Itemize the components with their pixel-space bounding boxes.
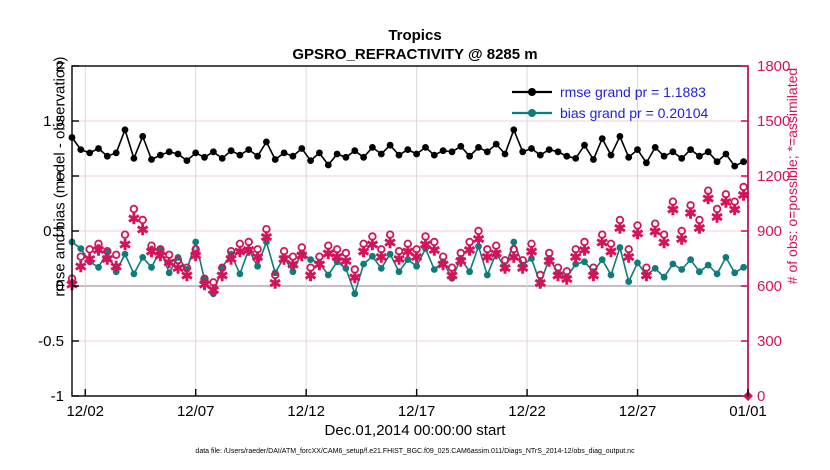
data-point	[599, 135, 606, 142]
obs-assimilated-marker: ✱	[631, 226, 644, 243]
obs-assimilated-marker: ✱	[675, 231, 688, 248]
data-point	[396, 152, 403, 159]
y-tick-label-left: -1	[51, 388, 64, 405]
data-point	[723, 151, 730, 158]
data-point	[440, 147, 447, 154]
series-asterisk: ✱✱✱✱✱✱✱✱✱✱✱✱✱✱✱✱✱✱✱✱✱✱✱✱✱✱✱✱✱✱✱✱✱✱✱✱✱✱✱✱…	[66, 187, 751, 299]
legend-label-2: bias grand pr = 0.20104	[560, 105, 708, 121]
data-point	[281, 150, 288, 157]
data-point	[139, 133, 146, 140]
data-point	[219, 155, 226, 162]
obs-assimilated-marker: ✱	[207, 283, 220, 300]
data-point	[528, 145, 535, 152]
data-point	[590, 156, 597, 163]
data-point	[572, 155, 579, 162]
chart-subtitle: GPSRO_REFRACTIVITY @ 8285 m	[0, 45, 830, 65]
data-point	[670, 261, 677, 268]
obs-assimilated-marker: ✱	[269, 275, 282, 292]
obs-assimilated-marker: ✱	[119, 237, 132, 254]
figure-canvas: Tropics GPSRO_REFRACTIVITY @ 8285 m rmse…	[0, 0, 830, 470]
data-point	[705, 148, 712, 155]
data-point	[696, 268, 703, 275]
data-point	[122, 126, 129, 133]
data-point	[705, 262, 712, 269]
obs-assimilated-marker: ✱	[605, 244, 618, 261]
x-tick-label: 12/12	[287, 403, 325, 420]
data-point	[351, 290, 358, 297]
data-point	[245, 146, 252, 153]
data-point	[466, 268, 473, 275]
data-point	[634, 260, 641, 267]
data-point	[290, 153, 297, 160]
x-tick-label: 12/27	[619, 403, 657, 420]
data-point	[687, 256, 694, 263]
legend-label-1: rmse grand pr = 1.1883	[560, 84, 706, 100]
y-tick-label-right: 600	[757, 278, 782, 295]
series-filled-circle	[69, 126, 747, 169]
data-point	[131, 155, 138, 162]
obs-assimilated-marker: ✱	[534, 275, 547, 292]
data-point	[643, 159, 650, 166]
obs-assimilated-marker: ✱	[516, 261, 529, 278]
data-point	[131, 271, 138, 278]
data-point	[360, 261, 367, 268]
data-point	[422, 144, 429, 151]
y-axis-right-label: # of obs: o=possible; *=assimilated	[784, 6, 800, 346]
obs-assimilated-marker: ✱	[640, 268, 653, 285]
data-point	[608, 152, 615, 159]
data-point	[192, 150, 199, 157]
data-point	[457, 143, 464, 150]
data-point	[617, 133, 624, 140]
data-point	[625, 278, 632, 285]
data-point	[95, 145, 102, 152]
data-point	[113, 150, 120, 157]
data-point	[254, 153, 261, 160]
data-point	[652, 265, 659, 272]
obs-assimilated-marker: ✱	[614, 220, 627, 237]
obs-assimilated-marker: ✱	[702, 191, 715, 208]
data-point	[148, 156, 155, 163]
data-point	[714, 158, 721, 165]
legend-marker-1	[528, 88, 536, 96]
data-point	[652, 144, 659, 151]
data-point	[493, 141, 500, 148]
data-point	[510, 239, 517, 246]
x-axis-label: Dec.01,2014 00:00:00 start	[0, 422, 830, 439]
data-point	[413, 151, 420, 158]
data-point	[714, 271, 721, 278]
data-point	[369, 144, 376, 151]
obs-assimilated-marker: ✱	[260, 230, 273, 247]
data-point	[378, 151, 385, 158]
y-axis-left-label: rmse and bias (model - observation)	[52, 7, 69, 347]
data-point	[104, 153, 111, 160]
data-point	[555, 148, 562, 155]
obs-assimilated-marker: ✱	[711, 209, 724, 226]
data-point	[157, 152, 164, 159]
data-point	[298, 145, 305, 152]
obs-assimilated-marker: ✱	[525, 244, 538, 261]
data-point	[86, 150, 93, 157]
obs-assimilated-marker: ✱	[622, 250, 635, 267]
data-point	[343, 154, 350, 161]
obs-assimilated-marker: ✱	[667, 202, 680, 219]
obs-assimilated-marker: ✱	[384, 235, 397, 252]
legend-marker-2	[528, 109, 536, 117]
data-point	[484, 272, 491, 279]
data-point	[731, 269, 738, 276]
data-point	[484, 148, 491, 155]
data-point	[325, 272, 332, 279]
y-tick-label-right: 900	[757, 223, 782, 240]
data-point	[166, 148, 173, 155]
x-tick-label: 12/22	[508, 403, 546, 420]
obs-assimilated-marker: ✱	[216, 268, 229, 285]
data-point	[634, 146, 641, 153]
x-tick-label: 12/07	[177, 403, 215, 420]
data-point	[210, 148, 217, 155]
data-point	[387, 142, 394, 149]
data-point	[192, 239, 199, 246]
data-point	[316, 150, 323, 157]
data-point	[625, 154, 632, 161]
data-point	[360, 154, 367, 161]
data-point	[687, 146, 694, 153]
data-point	[431, 152, 438, 159]
data-point	[563, 153, 570, 160]
data-point	[510, 126, 517, 133]
obs-assimilated-marker: ✱	[561, 272, 574, 289]
data-point	[678, 266, 685, 273]
x-tick-label: 01/01	[729, 403, 767, 420]
data-point	[502, 151, 509, 158]
x-tick-label: 12/02	[66, 403, 104, 420]
obs-assimilated-marker: ✱	[136, 222, 149, 239]
data-point	[148, 264, 155, 271]
data-point	[696, 153, 703, 160]
obs-assimilated-marker: ✱	[472, 231, 485, 248]
data-point	[404, 146, 411, 153]
data-point	[396, 268, 403, 275]
data-point	[608, 272, 615, 279]
data-point	[661, 153, 668, 160]
x-tick-label: 12/17	[398, 403, 436, 420]
obs-assimilated-marker: ✱	[251, 250, 264, 267]
data-point	[581, 142, 588, 149]
data-point	[740, 158, 747, 165]
obs-assimilated-marker: ✱	[658, 235, 671, 252]
obs-assimilated-marker: ✱	[110, 259, 123, 276]
data-point	[475, 144, 482, 151]
obs-assimilated-marker: ✱	[728, 202, 741, 219]
data-point	[325, 162, 332, 169]
obs-assimilated-marker: ✱	[693, 220, 706, 237]
data-point	[201, 154, 208, 161]
obs-assimilated-marker: ✱	[446, 268, 459, 285]
obs-assimilated-marker: ✱	[375, 250, 388, 267]
data-point	[723, 254, 730, 261]
data-point	[519, 148, 526, 155]
data-point	[175, 151, 182, 158]
data-file-path: data file: /Users/raeder/DAI/ATM_forcXX/…	[0, 448, 830, 455]
data-point	[661, 274, 668, 281]
data-point	[77, 146, 84, 153]
data-point	[237, 271, 244, 278]
data-point	[466, 153, 473, 160]
obs-assimilated-marker: ✱	[578, 242, 591, 259]
data-point	[263, 139, 270, 146]
data-point	[449, 148, 456, 155]
plot-area: ✱✱✱✱✱✱✱✱✱✱✱✱✱✱✱✱✱✱✱✱✱✱✱✱✱✱✱✱✱✱✱✱✱✱✱✱✱✱✱✱…	[0, 0, 830, 470]
obs-assimilated-marker: ✱	[181, 268, 194, 285]
data-point	[307, 157, 314, 164]
data-point	[228, 147, 235, 154]
obs-assimilated-marker: ✱	[587, 268, 600, 285]
data-point	[334, 151, 341, 158]
data-point	[184, 157, 191, 164]
obs-assimilated-marker: ✱	[189, 248, 202, 265]
obs-assimilated-marker: ✱	[349, 270, 362, 287]
data-point	[237, 152, 244, 159]
data-point	[678, 155, 685, 162]
data-point	[581, 258, 588, 265]
y-tick-label-right: 300	[757, 333, 782, 350]
data-point	[537, 152, 544, 159]
page-title: Tropics	[0, 26, 830, 45]
data-point	[351, 147, 358, 154]
data-point	[272, 156, 279, 163]
chart-title-block: Tropics GPSRO_REFRACTIVITY @ 8285 m	[0, 26, 830, 65]
data-point	[670, 148, 677, 155]
obs-assimilated-marker: ✱	[340, 253, 353, 270]
data-point	[740, 264, 747, 271]
obs-assimilated-marker: ✱	[296, 248, 309, 265]
data-point	[731, 163, 738, 170]
data-point	[546, 146, 553, 153]
